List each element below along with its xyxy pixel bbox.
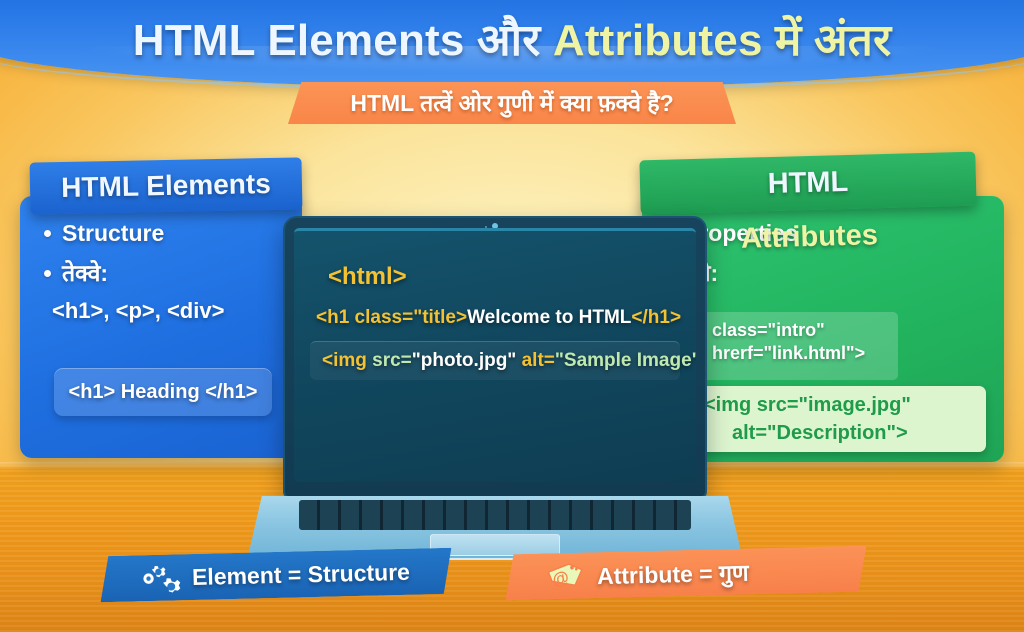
subtitle-ribbon: HTML तत्वें ओर गुणी में क्या फ़क्वे है? [288,82,736,124]
laptop-base [247,496,743,560]
bullet-dot-icon [44,270,51,277]
elements-bullet-1: तेक्वे: [62,258,108,288]
elements-code-example-text: <h1> Heading </h1> [54,368,272,416]
laptop-screen: <html> <h1 class="title>Welcome to HTML<… [294,228,696,482]
code-line-3-srcval: "photo.jpg" [412,350,522,371]
elements-panel-tab-label: HTML Elements [30,157,303,214]
code-line-2-text: Welcome to HTML [467,307,631,328]
attribute-summary-banner: @ Attribute = गुण [504,546,867,601]
code-line-2: <h1 class="title>Welcome to HTML</h1> [316,307,680,329]
title-part-aur: और [477,16,553,65]
code-line-2-close: </h1> [631,307,681,328]
code-line-3-alt: alt= [522,350,555,371]
attributes-tab-html: HTML [639,152,976,215]
code-line-3-altval: "Sample Image"> [555,350,696,371]
element-summary-banner: Element = Structure [99,548,452,603]
title-part-attributes: Attributes में अंतर [553,16,891,65]
element-summary-label: Element = Structure [192,558,411,590]
laptop-lid: <html> <h1 class="title>Welcome to HTML<… [283,216,707,498]
elements-code-example-box: <h1> Heading </h1> [54,368,272,416]
page-title: HTML Elements और Attributes में अंतर [0,8,1024,68]
tag-at-icon: @ [543,557,590,594]
attributes-panel-tab: HTML Attributes [639,152,976,215]
code-line-3-src: src= [372,350,412,371]
laptop-illustration: <html> <h1 class="title>Welcome to HTML<… [247,216,743,560]
laptop-keyboard [299,500,691,530]
gears-icon [138,559,185,596]
attribute-summary-label: Attribute = गुण [597,555,749,591]
code-line-3: <img src="photo.jpg" alt="Sample Image"> [322,350,674,372]
infographic-canvas: HTML Elements और Attributes में अंतर HTM… [0,0,1024,632]
elements-bullet-0: Structure [62,218,164,248]
code-line-2-tag: <h1 class="title> [316,307,467,328]
code-line-3-img: <img [322,350,372,371]
subtitle-text: HTML तत्वें ओर गुणी में क्या फ़क्वे है? [288,82,736,124]
code-line-1: <html> [328,263,680,291]
elements-panel-tab: HTML Elements [30,157,303,214]
title-part-elements: HTML Elements [133,16,477,65]
code-highlight-strip: <img src="photo.jpg" alt="Sample Image"> [310,341,680,380]
bullet-dot-icon [44,230,51,237]
